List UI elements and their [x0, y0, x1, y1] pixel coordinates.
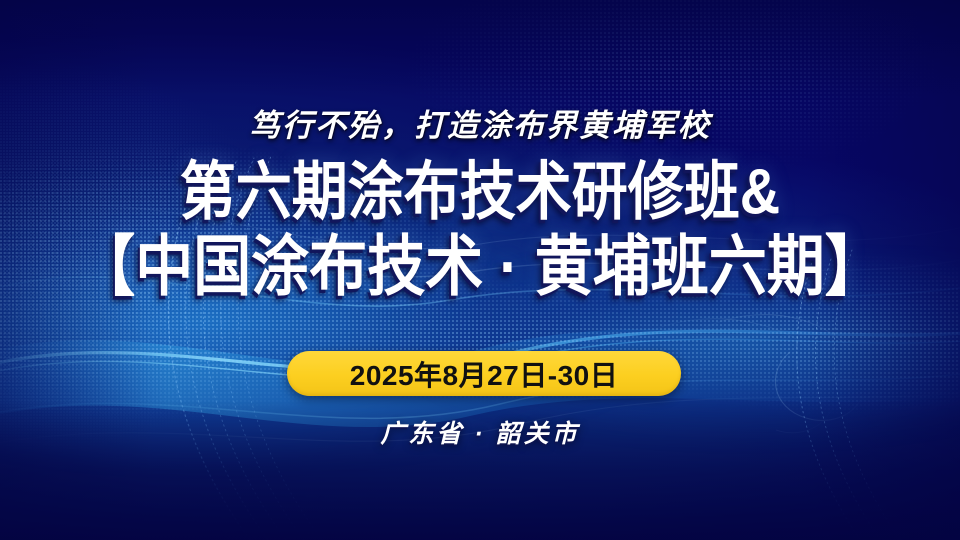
- event-date-badge: 2025年8月27日-30日: [287, 351, 681, 396]
- event-date-text: 2025年8月27日-30日: [350, 354, 618, 394]
- banner-tagline: 笃行不殆，打造涂布界黄埔军校: [249, 100, 711, 145]
- title-line-primary: 第六期涂布技术研修班&: [77, 159, 883, 225]
- event-location: 广东省 · 韶关市: [0, 414, 960, 450]
- event-banner: 笃行不殆，打造涂布界黄埔军校 第六期涂布技术研修班& 【中国涂布技术 · 黄埔班…: [0, 0, 960, 540]
- banner-title: 第六期涂布技术研修班& 【中国涂布技术 · 黄埔班六期】: [77, 159, 883, 294]
- banner-content: 笃行不殆，打造涂布界黄埔军校 第六期涂布技术研修班& 【中国涂布技术 · 黄埔班…: [0, 0, 960, 540]
- title-line-secondary: 【中国涂布技术 · 黄埔班六期】: [77, 233, 883, 302]
